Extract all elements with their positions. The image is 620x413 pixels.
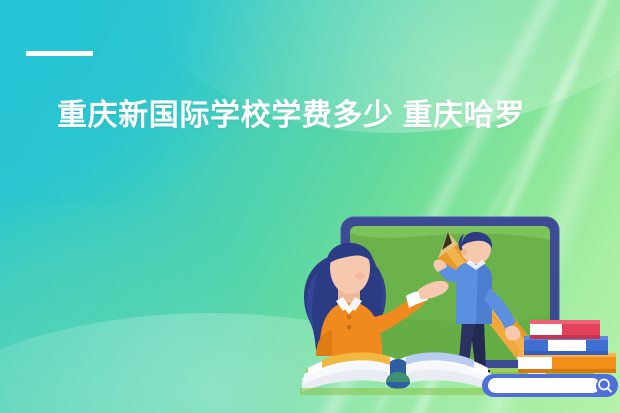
banner: 重庆新国际学校学费多少 重庆哈罗 (0, 0, 620, 413)
accent-rule (26, 51, 93, 56)
page-title: 重庆新国际学校学费多少 重庆哈罗 (57, 96, 617, 136)
book-stack (518, 320, 616, 373)
search-bar (482, 374, 618, 397)
hero-illustration (286, 210, 620, 413)
